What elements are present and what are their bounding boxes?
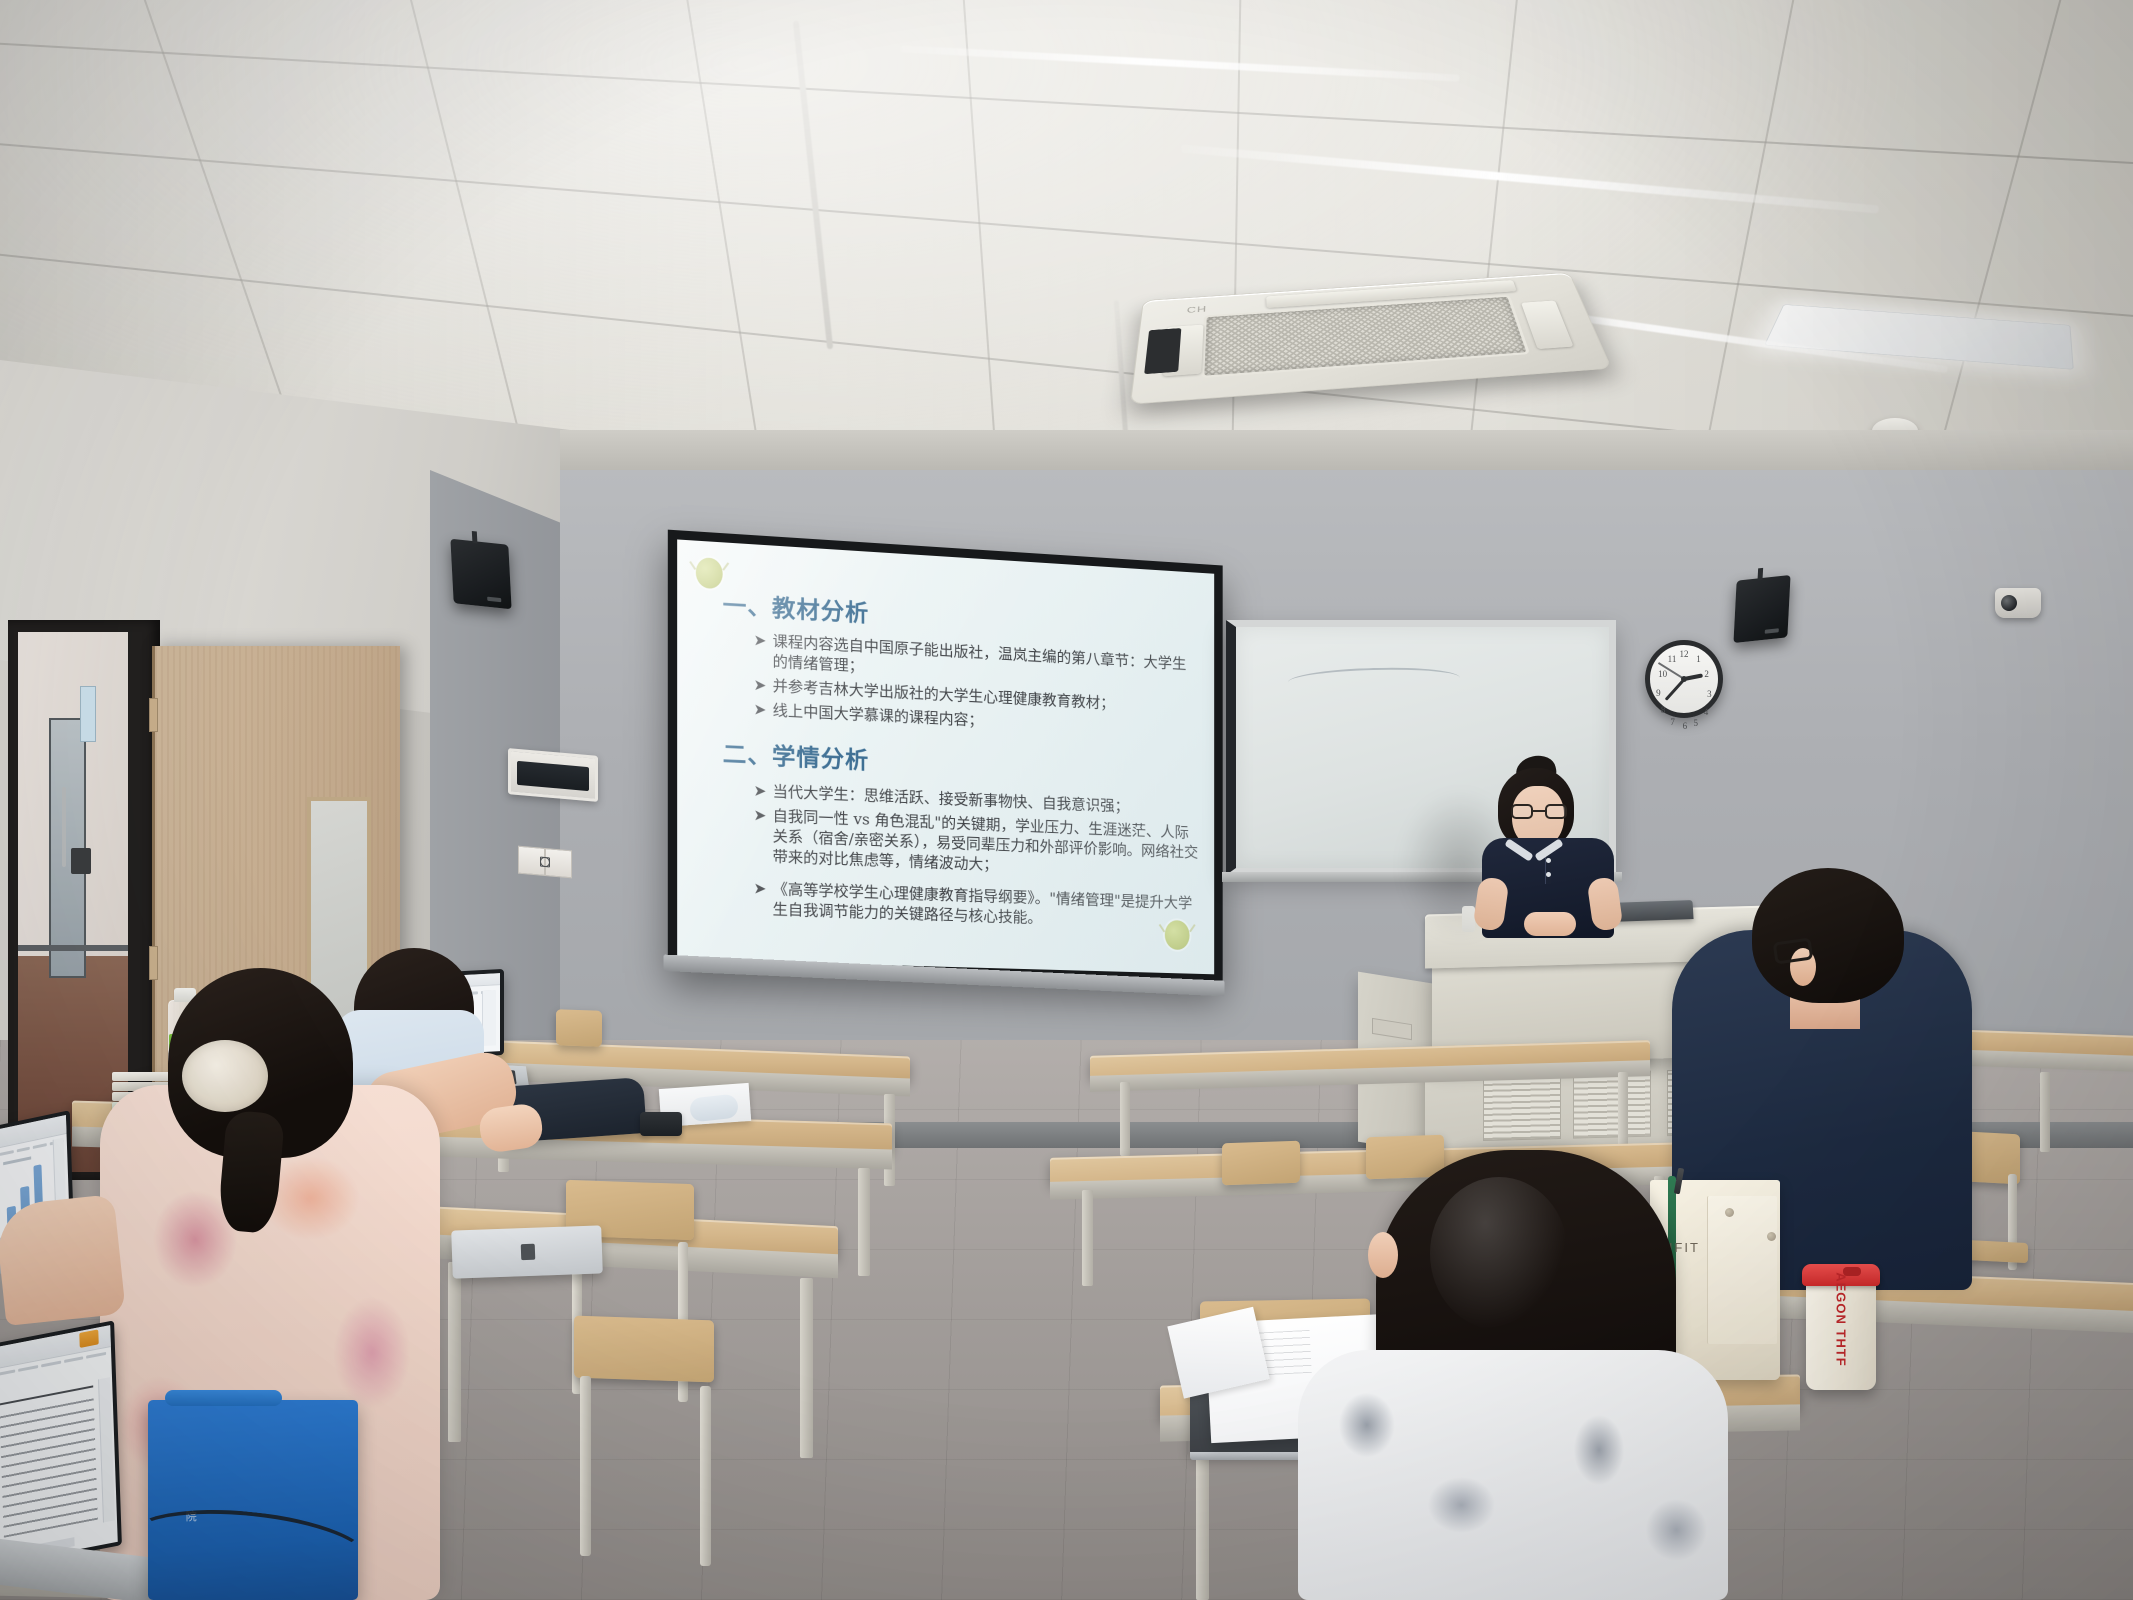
student-floral-white-ear [1368, 1232, 1398, 1278]
clock-number: 5 [1694, 718, 1699, 728]
wall-speaker-left [450, 539, 511, 610]
tote-front-pocket [1707, 1196, 1777, 1344]
clock-number: 7 [1670, 717, 1675, 727]
projection-screen: 一、教材分析 ➤ 课程内容选自中国原子能出版社，温岚主编的第八章节：大学生的情绪… [668, 530, 1223, 984]
desk-leg [1082, 1190, 1093, 1286]
presenter-hands [1524, 912, 1576, 936]
clock-number: 11 [1668, 654, 1677, 664]
presenter [1468, 760, 1638, 930]
desk-leg [800, 1278, 813, 1458]
student-navy-tshirt-head [1752, 868, 1904, 1003]
desk-leg [1120, 1082, 1130, 1156]
corridor-wall-plate [71, 848, 91, 874]
slide-heading-1: 一、教材分析 [723, 585, 870, 628]
slide-heading-2: 二、学情分析 [723, 734, 870, 775]
desk-leg [448, 1262, 461, 1442]
bullet-arrow-icon: ➤ [754, 630, 767, 651]
smartphone[interactable] [640, 1112, 682, 1136]
slide-bullet-text: 自我同一性 vs 角色混乱"的关键期，学业压力、生涯迷茫、人际关系（宿舍/亲密关… [773, 806, 1200, 883]
bullet-arrow-icon: ➤ [754, 780, 767, 801]
chair-left-front[interactable] [574, 1316, 714, 1383]
air-conditioner-grille [1201, 295, 1529, 379]
slide-bullet-text: 《高等学校学生心理健康教育指导纲要》。"情绪管理"是提升大学生自我调节能力的关键… [773, 879, 1200, 933]
bullet-arrow-icon: ➤ [754, 675, 767, 696]
clock-number: 6 [1683, 721, 1688, 731]
cabinet-label-plate [1372, 1018, 1412, 1040]
clock-number: 12 [1680, 649, 1689, 659]
slide-content: 一、教材分析 ➤ 课程内容选自中国原子能出版社，温岚主编的第八章节：大学生的情绪… [677, 539, 1214, 974]
tumbler-brand-text: AEGON THTF [1834, 1272, 1849, 1367]
presenter-collar [1508, 840, 1560, 870]
clock-number: 3 [1707, 689, 1712, 699]
hair-scrunchie [182, 1040, 268, 1112]
clock-number: 1 [1696, 654, 1701, 664]
clock-center-pin [1681, 676, 1687, 682]
chair-left-back[interactable] [556, 1009, 602, 1047]
desk-leg [858, 1168, 870, 1276]
glasses-icon [1511, 804, 1567, 820]
louver-right [1521, 301, 1574, 350]
slide-bullet: ➤ 《高等学校学生心理健康教育指导纲要》。"情绪管理"是提升大学生自我调节能力的… [754, 878, 1200, 933]
clock-number: 4 [1704, 707, 1709, 717]
whiteboard-marks [1288, 666, 1460, 695]
chair-right-mid[interactable] [1366, 1135, 1444, 1180]
electrical-panel[interactable] [508, 748, 598, 802]
laptop-logo-icon [521, 1244, 536, 1260]
wall-socket-plate[interactable] [518, 846, 572, 879]
decorative-dandelion-icon [696, 557, 723, 589]
vent-opening [1144, 328, 1181, 374]
clock-number: 8 [1661, 705, 1666, 715]
camera-icon [1995, 588, 2041, 618]
wall-clock: 12 1 2 3 4 5 6 7 8 9 10 11 [1645, 640, 1723, 718]
chair-leg [580, 1376, 591, 1556]
desk-leg [1618, 1072, 1628, 1146]
student-floral-white-torso [1298, 1350, 1728, 1600]
power-socket[interactable] [545, 848, 572, 878]
bullet-arrow-icon: ➤ [754, 805, 767, 826]
cabinet-vent [1573, 1071, 1651, 1139]
clock-number: 10 [1658, 669, 1667, 679]
clock-number: 9 [1656, 688, 1661, 698]
travel-tumbler: AEGON THTF [1806, 1278, 1876, 1390]
wall-speaker-right [1733, 575, 1790, 643]
bullet-arrow-icon: ➤ [754, 878, 767, 899]
student-arm-foreground [0, 1194, 126, 1326]
corridor-sign [80, 686, 96, 742]
bullet-arrow-icon: ➤ [754, 699, 767, 720]
cabinet-vent [1483, 1073, 1561, 1141]
laptop-document[interactable] [0, 1320, 122, 1569]
chair-leg [700, 1386, 711, 1566]
classroom-photo: CH [0, 0, 2133, 1600]
chair-right-mid[interactable] [1222, 1141, 1300, 1186]
clock-number: 2 [1704, 669, 1709, 679]
closed-laptop[interactable] [451, 1225, 603, 1278]
desk-leg [2040, 1072, 2050, 1152]
air-conditioner-logo: CH [1187, 304, 1208, 315]
